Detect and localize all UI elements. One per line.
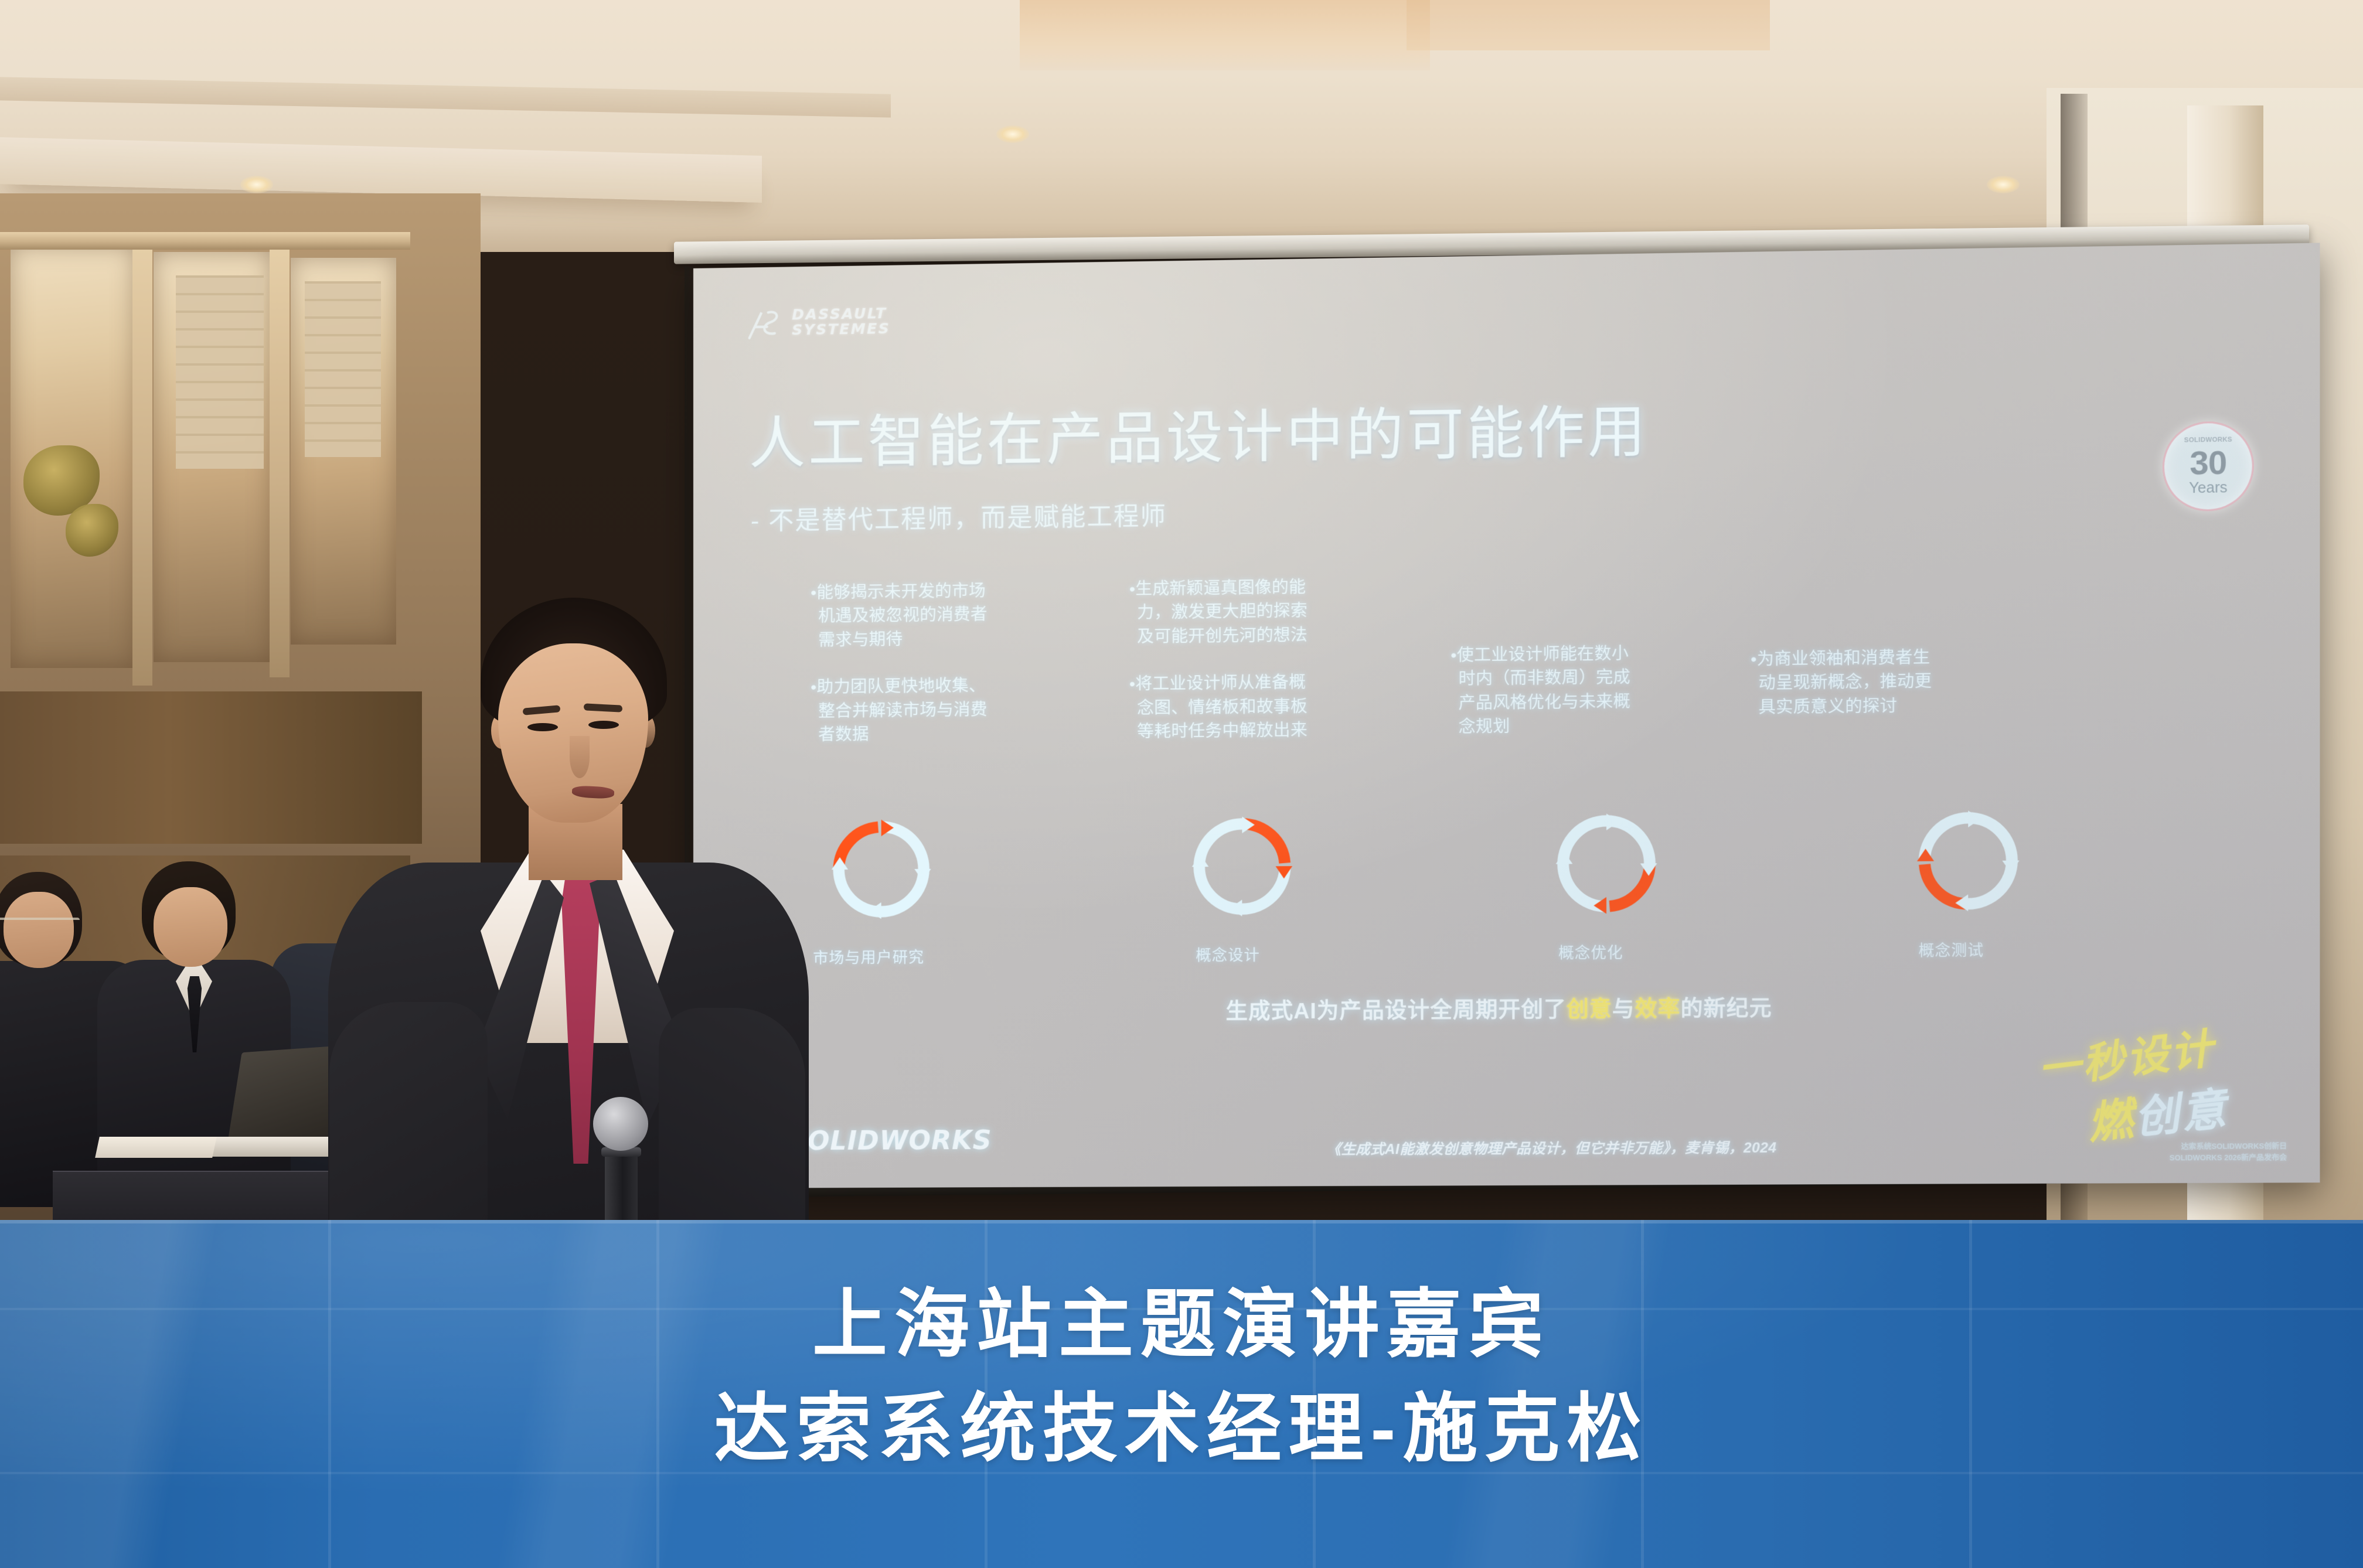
speaker-eye-right	[588, 721, 619, 729]
bullet-column: •为商业领袖和消费者生动呈现新概念，推动更具实质意义的探讨	[1751, 646, 1932, 744]
window-header	[0, 232, 410, 250]
banner-title-line-1: 上海站主题演讲嘉宾	[0, 1263, 2363, 1372]
ceiling-tan-panel-secondary	[1407, 0, 1770, 50]
bullet-item: •生成新颖逼真图像的能力，激发更大胆的探索及可能开创先河的想法	[1129, 575, 1308, 649]
tagline-part-3: 的新纪元	[1681, 996, 1772, 1021]
ceiling-downlight-icon	[996, 125, 1029, 143]
dassault-wordmark: DASSAULT SYSTEMES	[792, 306, 890, 338]
slide-title: 人工智能在产品设计中的可能作用	[749, 385, 1649, 479]
design-cycle-icons	[829, 806, 2255, 930]
bullet-item: •使工业设计师能在数小时内（而非数周）完成产品风格优化与未来概念规划	[1451, 642, 1630, 739]
slide-tagline: 生成式AI为产品设计全周期开创了创意与效率的新纪元	[1226, 990, 1772, 1025]
eyeglasses-icon	[0, 918, 80, 933]
calligraphy-subtext-line-2: SOLIDWORKS 2026新产品发布会	[2170, 1152, 2287, 1164]
calligraphy-ink-burn: 燃	[2085, 1094, 2137, 1148]
badge-brand-label: SOLIDWORKS	[2184, 437, 2232, 444]
exterior-stone-wall	[305, 281, 381, 457]
speaker-face	[498, 643, 648, 823]
cycle-stage-label: 概念优化	[1558, 940, 1623, 963]
badge-unit: Years	[2189, 480, 2228, 496]
microphone-icon	[593, 1097, 648, 1151]
brand-line-2: SYSTEMES	[792, 321, 890, 338]
cycle-arrows-icon-stage-4	[1915, 808, 2021, 913]
speaker-eye-left	[527, 723, 558, 731]
ceiling-downlight-icon	[1987, 176, 2020, 193]
paper-notes	[95, 1137, 217, 1158]
3ds-logo-icon	[745, 305, 784, 342]
banner-title-line-2: 达索系统技术经理-施克松	[0, 1368, 2363, 1476]
bullet-column: •使工业设计师能在数小时内（而非数周）完成产品风格优化与未来概念规划	[1451, 642, 1630, 763]
speaker-nose	[570, 736, 590, 778]
exterior-stone-wall	[176, 275, 264, 469]
tagline-highlight-creativity: 创意	[1567, 997, 1612, 1022]
slide-subtitle: - 不是替代工程师，而是赋能工程师	[751, 496, 1167, 537]
bullet-item: •助力团队更快地收集、整合并解读市场与消费者数据	[811, 674, 988, 747]
banner-top-edge	[0, 1220, 2363, 1223]
cycle-stage-label: 市场与用户研究	[813, 945, 924, 967]
ceiling-downlight-icon	[240, 176, 273, 193]
calligraphy-ink-blue: 创意	[2132, 1084, 2230, 1143]
ceiling-tan-panel	[1020, 0, 1430, 70]
cycle-arrows-icon-stage-1	[829, 817, 933, 922]
projection-screen: DASSAULT SYSTEMES 人工智能在产品设计中的可能作用 - 不是替代…	[693, 243, 2320, 1188]
calligraphy-subtext: 达索系统SOLIDWORKS创新日 SOLIDWORKS 2026新产品发布会	[2170, 1141, 2287, 1164]
anniversary-badge: SOLIDWORKS 30 Years	[2163, 421, 2254, 512]
cycle-stage-labels: 市场与用户研究 概念设计 概念优化 概念测试	[829, 936, 2255, 973]
tagline-highlight-efficiency: 效率	[1635, 997, 1681, 1021]
cycle-arrows-icon-stage-3	[1554, 811, 1659, 916]
window-mullion	[132, 240, 152, 686]
window-mullion	[270, 244, 290, 677]
audience-member-2-face	[154, 887, 227, 967]
bullet-column: •能够揭示未开发的市场机遇及被忽视的消费者需求与期待 •助力团队更快地收集、整合…	[811, 579, 988, 771]
bullet-item: •能够揭示未开发的市场机遇及被忽视的消费者需求与期待	[811, 579, 988, 652]
bullet-item: •将工业设计师从准备概念图、情绪板和故事板等耗时任务中解放出来	[1129, 671, 1308, 744]
tagline-part-2: 与	[1612, 997, 1635, 1021]
bullet-columns: •能够揭示未开发的市场机遇及被忽视的消费者需求与期待 •助力团队更快地收集、整合…	[811, 564, 2266, 775]
event-calligraphy-artwork: 一秒设计 燃创意 达索系统SOLIDWORKS创新日 SOLIDWORKS 20…	[2029, 1021, 2291, 1172]
caption-banner: 上海站主题演讲嘉宾 达索系统技术经理-施克松	[0, 1220, 2363, 1568]
bullet-item: •为商业领袖和消费者生动呈现新概念，推动更具实质意义的探讨	[1751, 646, 1932, 720]
cycle-stage-label: 概念设计	[1196, 943, 1260, 966]
bullet-column: •生成新颖逼真图像的能力，激发更大胆的探索及可能开创先河的想法 •将工业设计师从…	[1129, 575, 1308, 768]
tagline-part-1: 生成式AI为产品设计全周期开创了	[1226, 997, 1567, 1024]
calligraphy-subtext-line-1: 达索系统SOLIDWORKS创新日	[2170, 1141, 2287, 1153]
dassault-systemes-logo: DASSAULT SYSTEMES	[745, 303, 890, 342]
cycle-arrows-icon-stage-2	[1190, 814, 1294, 919]
cycle-stage-label: 概念测试	[1919, 938, 1984, 960]
source-citation: 《生成式AI能激发创意物理产品设计，但它并非万能》，麦肯锡，2024	[1327, 1136, 1777, 1158]
badge-number: 30	[2190, 446, 2226, 480]
